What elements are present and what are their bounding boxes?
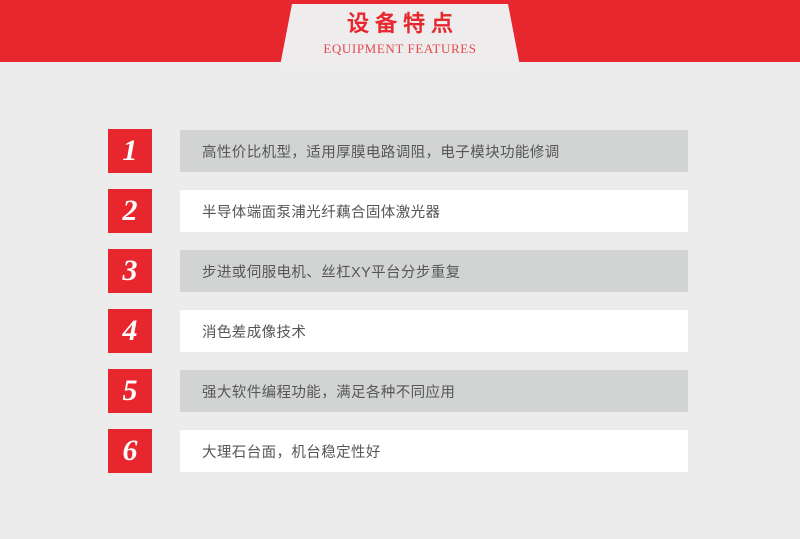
feature-text: 大理石台面，机台稳定性好 xyxy=(202,441,381,462)
feature-number-badge: 3 xyxy=(108,249,152,293)
feature-text: 高性价比机型，适用厚膜电路调阻，电子模块功能修调 xyxy=(202,141,560,162)
page-header: 设备特点 EQUIPMENT FEATURES xyxy=(0,0,800,66)
feature-bar: 消色差成像技术 xyxy=(180,310,688,352)
feature-row: 5强大软件编程功能，满足各种不同应用 xyxy=(0,369,800,413)
feature-bar: 步进或伺服电机、丝杠XY平台分步重复 xyxy=(180,250,688,292)
feature-text: 强大软件编程功能，满足各种不同应用 xyxy=(202,381,455,402)
feature-bar: 强大软件编程功能，满足各种不同应用 xyxy=(180,370,688,412)
page-subtitle: EQUIPMENT FEATURES xyxy=(323,39,476,59)
feature-bar: 半导体端面泵浦光纤藕合固体激光器 xyxy=(180,190,688,232)
feature-bar: 大理石台面，机台稳定性好 xyxy=(180,430,688,472)
feature-text: 步进或伺服电机、丝杠XY平台分步重复 xyxy=(202,261,461,282)
feature-row: 4消色差成像技术 xyxy=(0,309,800,353)
header-title-tab-inner: 设备特点 EQUIPMENT FEATURES xyxy=(280,4,520,66)
feature-row: 1高性价比机型，适用厚膜电路调阻，电子模块功能修调 xyxy=(0,129,800,173)
feature-number-badge: 1 xyxy=(108,129,152,173)
header-title-tab: 设备特点 EQUIPMENT FEATURES xyxy=(280,4,520,66)
feature-number-badge: 5 xyxy=(108,369,152,413)
feature-row: 2半导体端面泵浦光纤藕合固体激光器 xyxy=(0,189,800,233)
feature-bar: 高性价比机型，适用厚膜电路调阻，电子模块功能修调 xyxy=(180,130,688,172)
feature-text: 半导体端面泵浦光纤藕合固体激光器 xyxy=(202,201,440,222)
feature-number-badge: 2 xyxy=(108,189,152,233)
page-title: 设备特点 xyxy=(341,10,459,38)
feature-row: 6大理石台面，机台稳定性好 xyxy=(0,429,800,473)
feature-row: 3步进或伺服电机、丝杠XY平台分步重复 xyxy=(0,249,800,293)
feature-number-badge: 6 xyxy=(108,429,152,473)
feature-number-badge: 4 xyxy=(108,309,152,353)
feature-text: 消色差成像技术 xyxy=(202,321,306,342)
